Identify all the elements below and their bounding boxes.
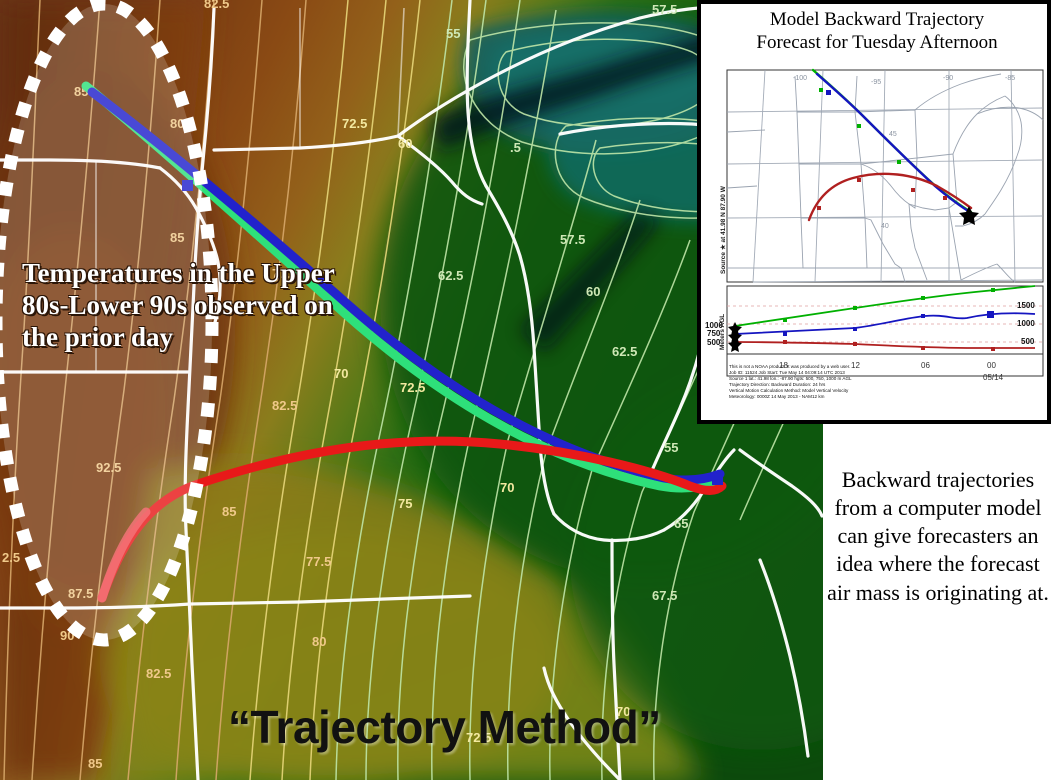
contour-label: 70 [500,480,514,495]
contour-label: 62.5 [438,268,463,283]
contour-label: 70 [334,366,348,381]
contour-label: 57.5 [652,2,677,17]
metadata-line: Meteorology: 0000Z 14 May 2013 - NAM12 k… [729,394,1029,400]
contour-label: 82.5 [272,398,297,413]
contour-label: 60 [398,136,412,151]
contour-label: 55 [446,26,460,41]
slide-canvas: 85 80 85 92.5 2.5 87.5 90 85 77.5 82.5 7… [0,0,1051,780]
contour-label: 2.5 [2,550,20,565]
lon-tick-label: -85 [1005,75,1015,82]
contour-label: 82.5 [204,0,229,11]
contour-label: 60 [586,284,600,299]
hysplit-metadata: This is not a NOAA product. It was produ… [729,364,1029,400]
inset-body: -100 -95 -90 -85 45 40 [705,68,1047,420]
contour-label: 75 [398,496,412,511]
map-annotation-text: Temperatures in the Upper 80s-Lower 90s … [22,258,352,354]
alt-right-tick: 1000 [1017,319,1035,328]
contour-label: 77.5 [306,554,331,569]
contour-label: 65 [674,516,688,531]
contour-label: 82.5 [146,666,171,681]
inset-title-line2: Forecast for Tuesday Afternoon [707,31,1047,54]
contour-label: 80 [312,634,326,649]
contour-label: .5 [510,140,521,155]
contour-label: 85 [88,756,102,771]
inset-title: Model Backward Trajectory Forecast for T… [707,8,1047,54]
hysplit-inset-panel: Model Backward Trajectory Forecast for T… [697,0,1051,424]
alt-right-tick: 1500 [1017,301,1035,310]
lat-tick-label: 40 [881,223,889,230]
alt-right-tick: 500 [1021,337,1035,346]
contour-label: 62.5 [612,344,637,359]
lon-tick-label: -95 [871,79,881,86]
contour-label: 72.5 [342,116,367,131]
lon-tick-label: -90 [943,75,953,82]
contour-label: 85 [222,504,236,519]
contour-label: 67.5 [652,588,677,603]
contour-label: 57.5 [560,232,585,247]
inset-title-line1: Model Backward Trajectory [707,8,1047,31]
source-label: Source ★ at 41.98 N 87.90 W [719,186,727,274]
contour-label: 72.5 [400,380,425,395]
lon-tick-label: -100 [793,75,807,82]
lat-tick-label: 45 [889,131,897,138]
page-title: “Trajectory Method” [228,700,661,754]
explanatory-caption: Backward trajectories from a computer mo… [826,466,1050,607]
altitude-axis-label: Meters AGL [719,314,726,350]
contour-label: 55 [664,440,678,455]
